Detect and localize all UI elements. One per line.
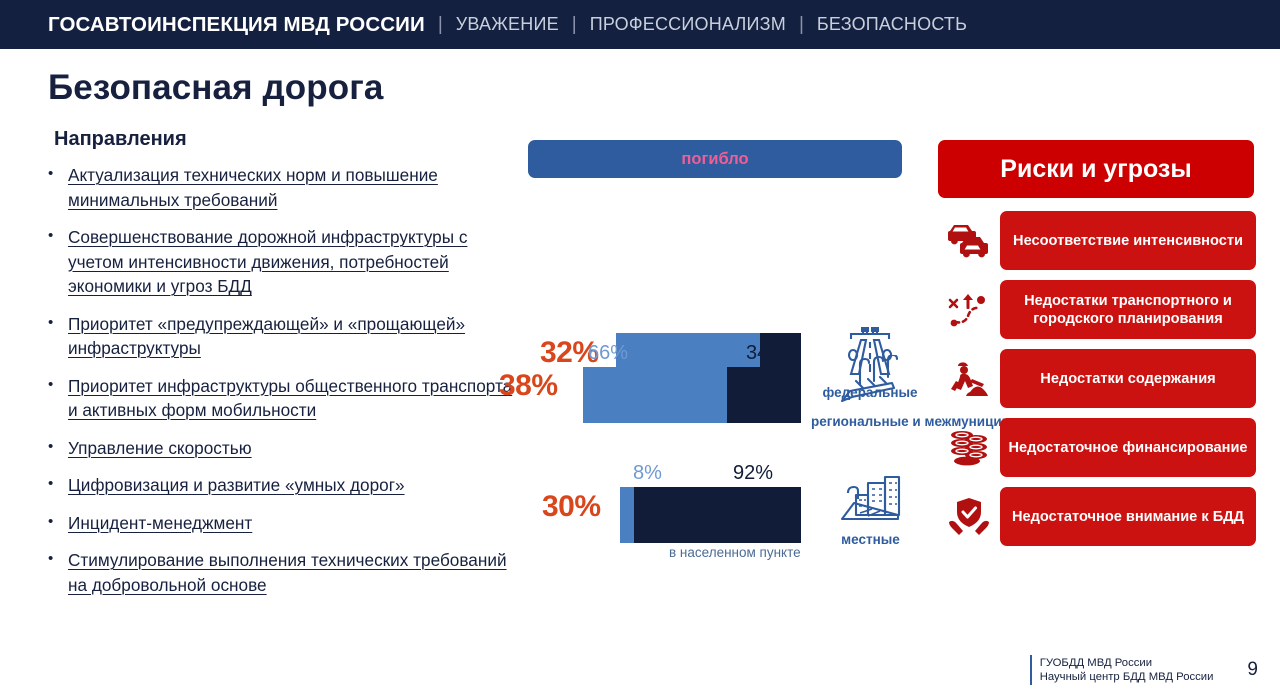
risk-icon-wrap [938,496,1000,538]
risk-box[interactable]: Недостаточное внимание к БДД [1000,487,1256,546]
risk-icon-wrap [938,428,1000,468]
risk-icon-wrap [938,290,1000,330]
header-divider-1: | [438,14,443,36]
bar-segment-outside-settlement [620,487,634,543]
risks-panel: Риски и угрозы Несоответствие интенсивно… [938,140,1256,556]
top-header-bar: ГОСАВТОИНСПЕКЦИЯ МВД РОССИИ | УВАЖЕНИЕ |… [0,0,1280,49]
risk-label: Недостаточное финансирование [1008,439,1247,457]
city-buildings-icon [838,473,904,525]
risk-box[interactable]: Несоответствие интенсивности [1000,211,1256,270]
header-divider-3: | [799,14,804,36]
risk-label: Недостатки содержания [1040,370,1215,388]
list-item-label[interactable]: Управление скоростью [68,436,252,461]
pct-light-local: 8% [633,462,662,485]
bar-group-local: 30% 8% 92% в населенном пункте [528,465,938,575]
bar-caption-inside: в населенном пункте [669,545,801,560]
car-crash-icon [946,221,992,261]
bullet-icon: • [44,473,68,498]
road-type-regional: региональные и межмуниципальные [811,355,931,429]
roadwork-worker-icon [946,359,992,399]
list-item-label[interactable]: Цифровизация и развитие «умных дорог» [68,473,405,498]
motto-professionalism: ПРОФЕССИОНАЛИЗМ [590,14,786,35]
risk-label: Недостатки транспортного и городского пл… [1006,292,1250,328]
share-label-regional: 38% [499,369,558,403]
risk-box[interactable]: Недостатки содержания [1000,349,1256,408]
bullet-icon: • [44,374,68,423]
risk-icon-wrap [938,359,1000,399]
directions-panel: Направления • Актуализация технических н… [44,128,514,610]
bullet-icon: • [44,312,68,361]
footer-line-1: ГУОБДД МВД России [1040,656,1214,670]
stacked-bar-regional [583,367,801,423]
stacked-bar-local [620,487,801,543]
shield-hands-icon [946,496,992,538]
motto-respect: УВАЖЕНИЕ [456,14,559,35]
road-type-label-local: местные [818,532,923,547]
chart-legend-label: погибло [681,150,748,169]
slide-footer: ГУОБДД МВД России Научный центр БДД МВД … [1030,655,1258,685]
organization-brand: ГОСАВТОИНСПЕКЦИЯ МВД РОССИИ [48,13,425,37]
directions-list: • Актуализация технических норм и повыше… [44,163,514,597]
list-item: • Цифровизация и развитие «умных дорог» [44,473,514,498]
list-item-label[interactable]: Приоритет «предупреждающей» и «прощающей… [68,312,514,361]
bar-segment-inside-settlement [727,367,801,423]
bullet-icon: • [44,225,68,299]
list-item-label[interactable]: Стимулирование выполнения технических тр… [68,548,514,597]
motto-safety: БЕЗОПАСНОСТЬ [817,14,967,35]
list-item: • Инцидент-менеджмент [44,511,514,536]
pct-dark-regional: 34% [746,342,786,365]
route-planning-icon [946,290,992,330]
list-item: • Актуализация технических норм и повыше… [44,163,514,212]
list-item: • Стимулирование выполнения технических … [44,548,514,597]
risk-row-maintenance: Недостатки содержания [938,349,1256,408]
bullet-icon: • [44,436,68,461]
header-content: ГОСАВТОИНСПЕКЦИЯ МВД РОССИИ | УВАЖЕНИЕ |… [48,13,967,37]
fatalities-chart: погибло 32% 78% 22% вне населенного пунк… [528,140,938,178]
bar-group-regional: 38% 66% 34% региональные и межмуниципаль… [528,345,938,455]
bullet-icon: • [44,511,68,536]
list-item: • Приоритет «предупреждающей» и «прощающ… [44,312,514,361]
risk-row-mismatch: Несоответствие интенсивности [938,211,1256,270]
coins-stack-icon [946,428,992,468]
risk-row-attention: Недостаточное внимание к БДД [938,487,1256,546]
bar-segment-inside-settlement [634,487,801,543]
bar-segment-outside-settlement [583,367,727,423]
list-item-label[interactable]: Инцидент-менеджмент [68,511,252,536]
risk-icon-wrap [938,221,1000,261]
directions-heading: Направления [54,128,514,151]
road-type-label-regional: региональные и межмуниципальные [811,414,931,429]
page-number: 9 [1247,659,1258,681]
slide-title: Безопасная дорога [48,68,383,108]
footer-credits: ГУОБДД МВД России Научный центр БДД МВД … [1040,656,1214,684]
list-item-label[interactable]: Приоритет инфраструктуры общественного т… [68,374,514,423]
list-item: • Совершенствование дорожной инфраструкт… [44,225,514,299]
risk-label: Недостаточное внимание к БДД [1012,508,1244,526]
risk-box[interactable]: Недостатки транспортного и городского пл… [1000,280,1256,339]
risk-row-planning: Недостатки транспортного и городского пл… [938,280,1256,339]
road-type-local: местные [818,473,923,547]
list-item: • Управление скоростью [44,436,514,461]
risk-label: Несоответствие интенсивности [1013,232,1243,250]
bullet-icon: • [44,548,68,597]
chart-legend-pill: погибло [528,140,902,178]
risk-box[interactable]: Недостаточное финансирование [1000,418,1256,477]
header-divider-2: | [572,14,577,36]
pct-dark-local: 92% [733,462,773,485]
risk-row-funding: Недостаточное финансирование [938,418,1256,477]
list-item-label[interactable]: Совершенствование дорожной инфраструктур… [68,225,514,299]
share-label-local: 30% [542,490,601,524]
road-streetlights-icon [836,355,906,407]
list-item: • Приоритет инфраструктуры общественного… [44,374,514,423]
risks-heading-label: Риски и угрозы [1000,155,1191,184]
list-item-label[interactable]: Актуализация технических норм и повышени… [68,163,514,212]
risks-heading-box: Риски и угрозы [938,140,1254,198]
bar-group-federal: 32% 78% 22% вне населенного пункта [528,228,938,328]
footer-divider [1030,655,1032,685]
footer-line-2: Научный центр БДД МВД России [1040,670,1214,684]
bullet-icon: • [44,163,68,212]
pct-light-regional: 66% [588,342,628,365]
